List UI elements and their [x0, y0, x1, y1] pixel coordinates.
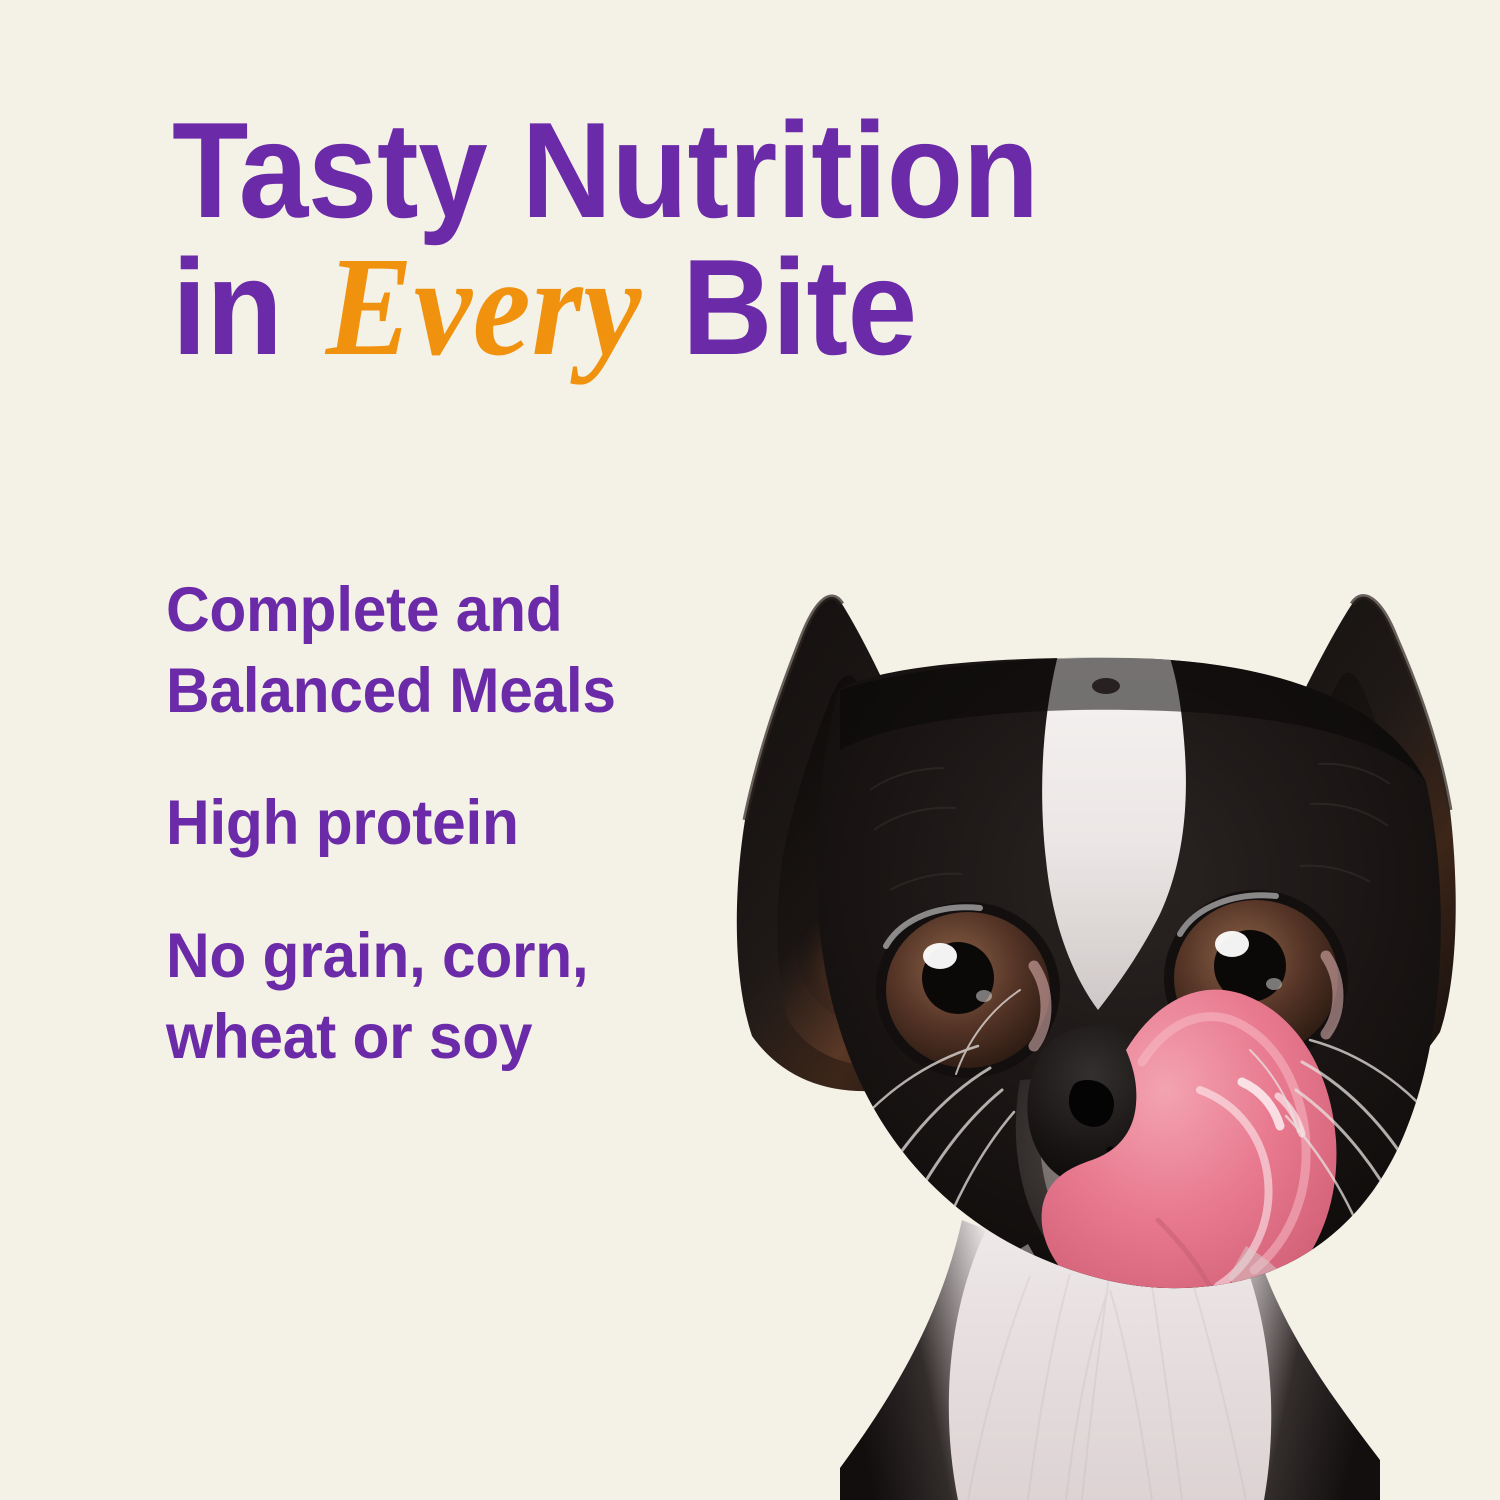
blaze-spot [1092, 678, 1120, 694]
product-feature-banner: Tasty Nutrition in Every Bite Complete a… [0, 0, 1500, 1500]
headline-emphasis-every: Every [317, 227, 648, 385]
benefit-line: Complete and [166, 570, 742, 651]
benefit-line: Balanced Meals [166, 651, 742, 732]
dog-left-eye [876, 902, 1060, 1078]
benefit-list: Complete and Balanced Meals High protein… [166, 570, 766, 1077]
page-title: Tasty Nutrition in Every Bite [172, 104, 1292, 376]
headline-line-2-suffix: Bite [648, 231, 917, 383]
benefit-line: High protein [166, 783, 742, 864]
headline-line-2: in Every Bite [172, 237, 1202, 376]
benefit-item-complete-balanced: Complete and Balanced Meals [166, 570, 742, 731]
benefit-line: No grain, corn, [166, 916, 742, 997]
benefit-item-high-protein: High protein [166, 783, 742, 864]
headline-line-2-prefix: in [172, 231, 317, 383]
dog-head [817, 631, 1443, 1339]
benefit-line: wheat or soy [166, 997, 742, 1078]
dog-photo [690, 390, 1500, 1500]
benefit-item-no-grain-corn-wheat-soy: No grain, corn, wheat or soy [166, 916, 742, 1077]
headline-line-1: Tasty Nutrition [172, 104, 1202, 237]
